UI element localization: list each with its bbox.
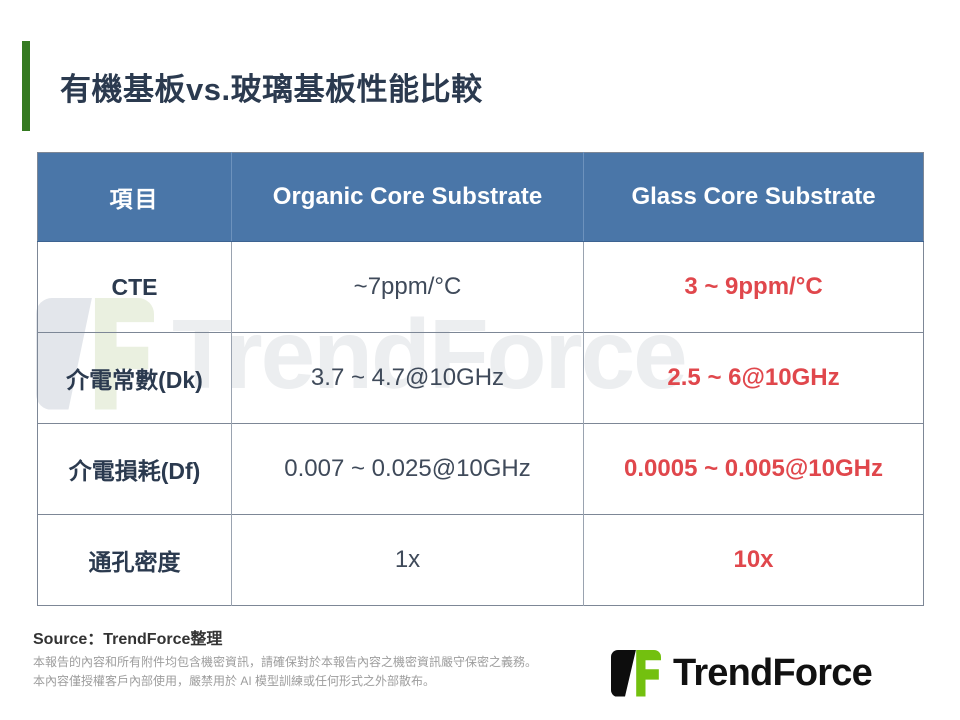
table-row: CTE ~7ppm/°C 3 ~ 9ppm/°C <box>38 242 924 333</box>
cell-glass-cte: 3 ~ 9ppm/°C <box>584 242 924 333</box>
logo-slash-shape <box>611 650 636 697</box>
cell-glass-dk: 2.5 ~ 6@10GHz <box>584 333 924 424</box>
logo-f-shape <box>630 650 661 697</box>
cell-organic-dk: 3.7 ~ 4.7@10GHz <box>232 333 584 424</box>
row-label-via-density: 通孔密度 <box>38 515 232 606</box>
title-accent-bar <box>22 41 30 131</box>
page-title: 有機基板vs.玻璃基板性能比較 <box>60 64 483 109</box>
trendforce-logo-icon <box>611 650 661 697</box>
column-header-glass: Glass Core Substrate <box>584 153 924 242</box>
row-label-cte: CTE <box>38 242 232 333</box>
table-row: 介電損耗(Df) 0.007 ~ 0.025@10GHz 0.0005 ~ 0.… <box>38 424 924 515</box>
trendforce-logo-text: TrendForce <box>673 654 872 692</box>
disclaimer-line-2: 本內容僅授權客戶內部使用，嚴禁用於 AI 模型訓練或任何形式之外部散布。 <box>33 672 537 691</box>
table-body: CTE ~7ppm/°C 3 ~ 9ppm/°C 介電常數(Dk) 3.7 ~ … <box>38 242 924 606</box>
table-header-row: 項目 Organic Core Substrate Glass Core Sub… <box>38 153 924 242</box>
row-label-dk: 介電常數(Dk) <box>38 333 232 424</box>
title-block: 有機基板vs.玻璃基板性能比較 <box>22 41 483 131</box>
table-header: 項目 Organic Core Substrate Glass Core Sub… <box>38 153 924 242</box>
column-header-organic: Organic Core Substrate <box>232 153 584 242</box>
table-row: 通孔密度 1x 10x <box>38 515 924 606</box>
comparison-table: 項目 Organic Core Substrate Glass Core Sub… <box>37 152 924 606</box>
column-header-item: 項目 <box>38 153 232 242</box>
disclaimer-text: 本報告的內容和所有附件均包含機密資訊，請確保對於本報告內容之機密資訊嚴守保密之義… <box>33 653 537 690</box>
cell-glass-via-density: 10x <box>584 515 924 606</box>
cell-organic-df: 0.007 ~ 0.025@10GHz <box>232 424 584 515</box>
cell-organic-cte: ~7ppm/°C <box>232 242 584 333</box>
table-row: 介電常數(Dk) 3.7 ~ 4.7@10GHz 2.5 ~ 6@10GHz <box>38 333 924 424</box>
trendforce-logo: TrendForce <box>611 648 872 698</box>
row-label-df: 介電損耗(Df) <box>38 424 232 515</box>
cell-organic-via-density: 1x <box>232 515 584 606</box>
source-line: Source：TrendForce整理 <box>33 625 222 649</box>
cell-glass-df: 0.0005 ~ 0.005@10GHz <box>584 424 924 515</box>
disclaimer-line-1: 本報告的內容和所有附件均包含機密資訊，請確保對於本報告內容之機密資訊嚴守保密之義… <box>33 653 537 672</box>
